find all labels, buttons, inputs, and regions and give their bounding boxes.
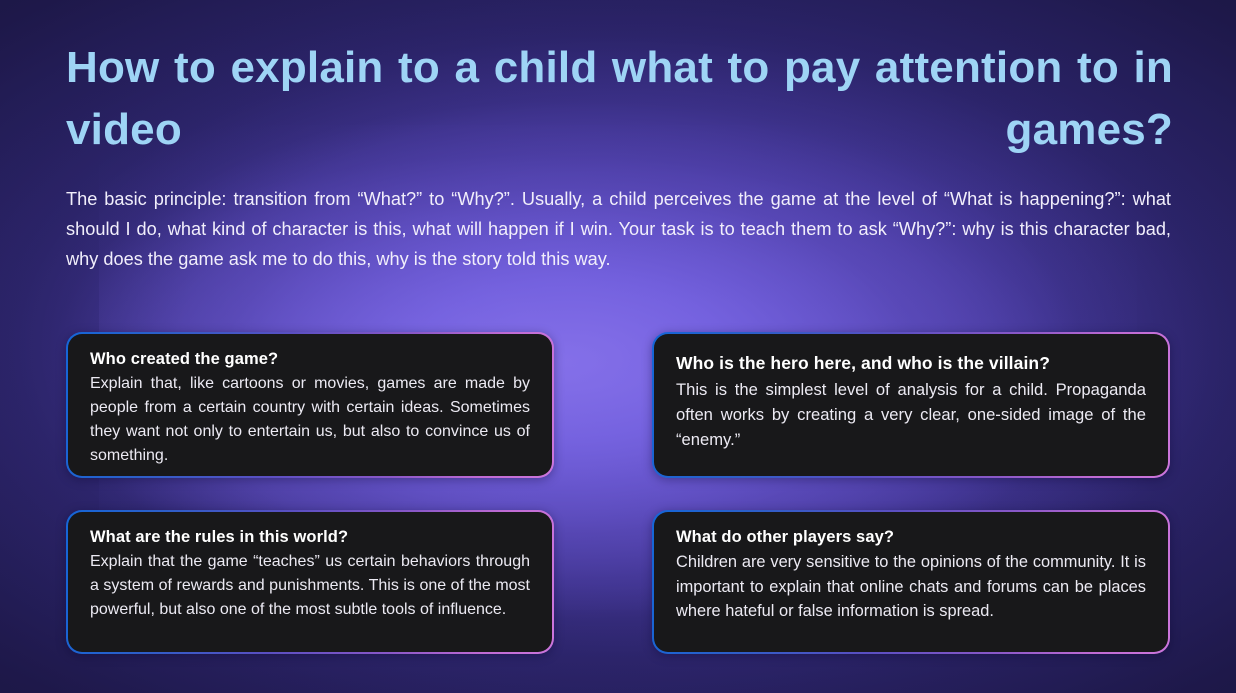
card-what-do-other-players-say: What do other players say? Children are …: [652, 510, 1170, 654]
card-title: What are the rules in this world?: [90, 526, 530, 549]
card-body: Explain that the game “teaches” us certa…: [90, 550, 530, 622]
card-body: Explain that, like cartoons or movies, g…: [90, 372, 530, 468]
card-inner: What do other players say? Children are …: [654, 512, 1168, 652]
card-inner: Who is the hero here, and who is the vil…: [654, 334, 1168, 476]
card-title: Who created the game?: [90, 348, 530, 371]
card-body: Children are very sensitive to the opini…: [676, 550, 1146, 624]
card-title: Who is the hero here, and who is the vil…: [676, 351, 1146, 376]
card-title: What do other players say?: [676, 526, 1146, 549]
card-who-created-the-game: Who created the game? Explain that, like…: [66, 332, 554, 478]
card-inner: Who created the game? Explain that, like…: [68, 334, 552, 476]
card-what-are-the-rules: What are the rules in this world? Explai…: [66, 510, 554, 654]
card-who-is-the-hero: Who is the hero here, and who is the vil…: [652, 332, 1170, 478]
lead-paragraph: The basic principle: transition from “Wh…: [66, 184, 1171, 274]
card-body: This is the simplest level of analysis f…: [676, 377, 1146, 452]
card-grid: Who created the game? Explain that, like…: [66, 332, 1170, 654]
slide-canvas: How to explain to a child what to pay at…: [0, 0, 1236, 693]
card-inner: What are the rules in this world? Explai…: [68, 512, 552, 652]
